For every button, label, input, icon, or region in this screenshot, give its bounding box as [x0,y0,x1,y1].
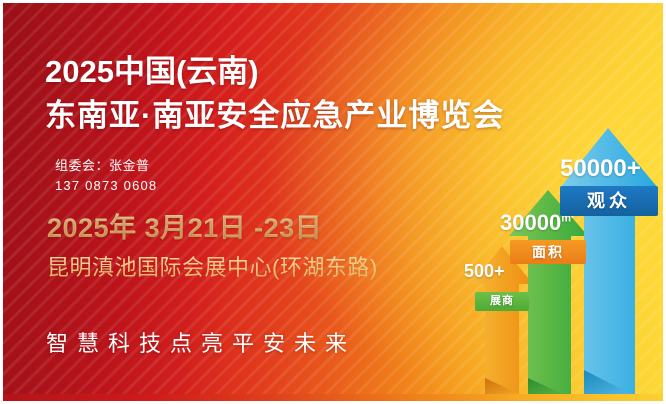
bottom-color-band [3,394,663,401]
poster-title-line2: 东南亚·南亚安全应急产业博览会 [45,90,504,135]
arrow-label-exhibitors: 展商 [475,292,529,311]
event-date: 2025年 3月21日 -23日 [47,206,322,245]
arrow-label-visitors: 观众 [560,186,658,216]
arrow-label-area: 面积 [510,240,586,264]
arrow-value-exhibitors: 500+ [464,261,505,282]
poster-tagline: 智慧科技点亮平安未来 [46,326,356,358]
poster-canvas: 2025中国(云南) 东南亚·南亚安全应急产业博览会 组委会：张金普 137 0… [0,0,666,404]
arrow-bar-chart: 500+ 30000m² 50000+ 展商 面积 观众 [452,126,664,401]
event-venue: 昆明滇池国际会展中心(环湖东路) [47,250,378,282]
organizer-contact-name: 组委会：张金普 [55,155,150,174]
arrow-value-visitors: 50000+ [560,155,641,183]
organizer-contact-phone: 137 0873 0608 [55,178,157,193]
poster-title-line1: 2025中国(云南) [45,46,259,91]
arrow-value-area-number: 30000 [500,210,561,235]
